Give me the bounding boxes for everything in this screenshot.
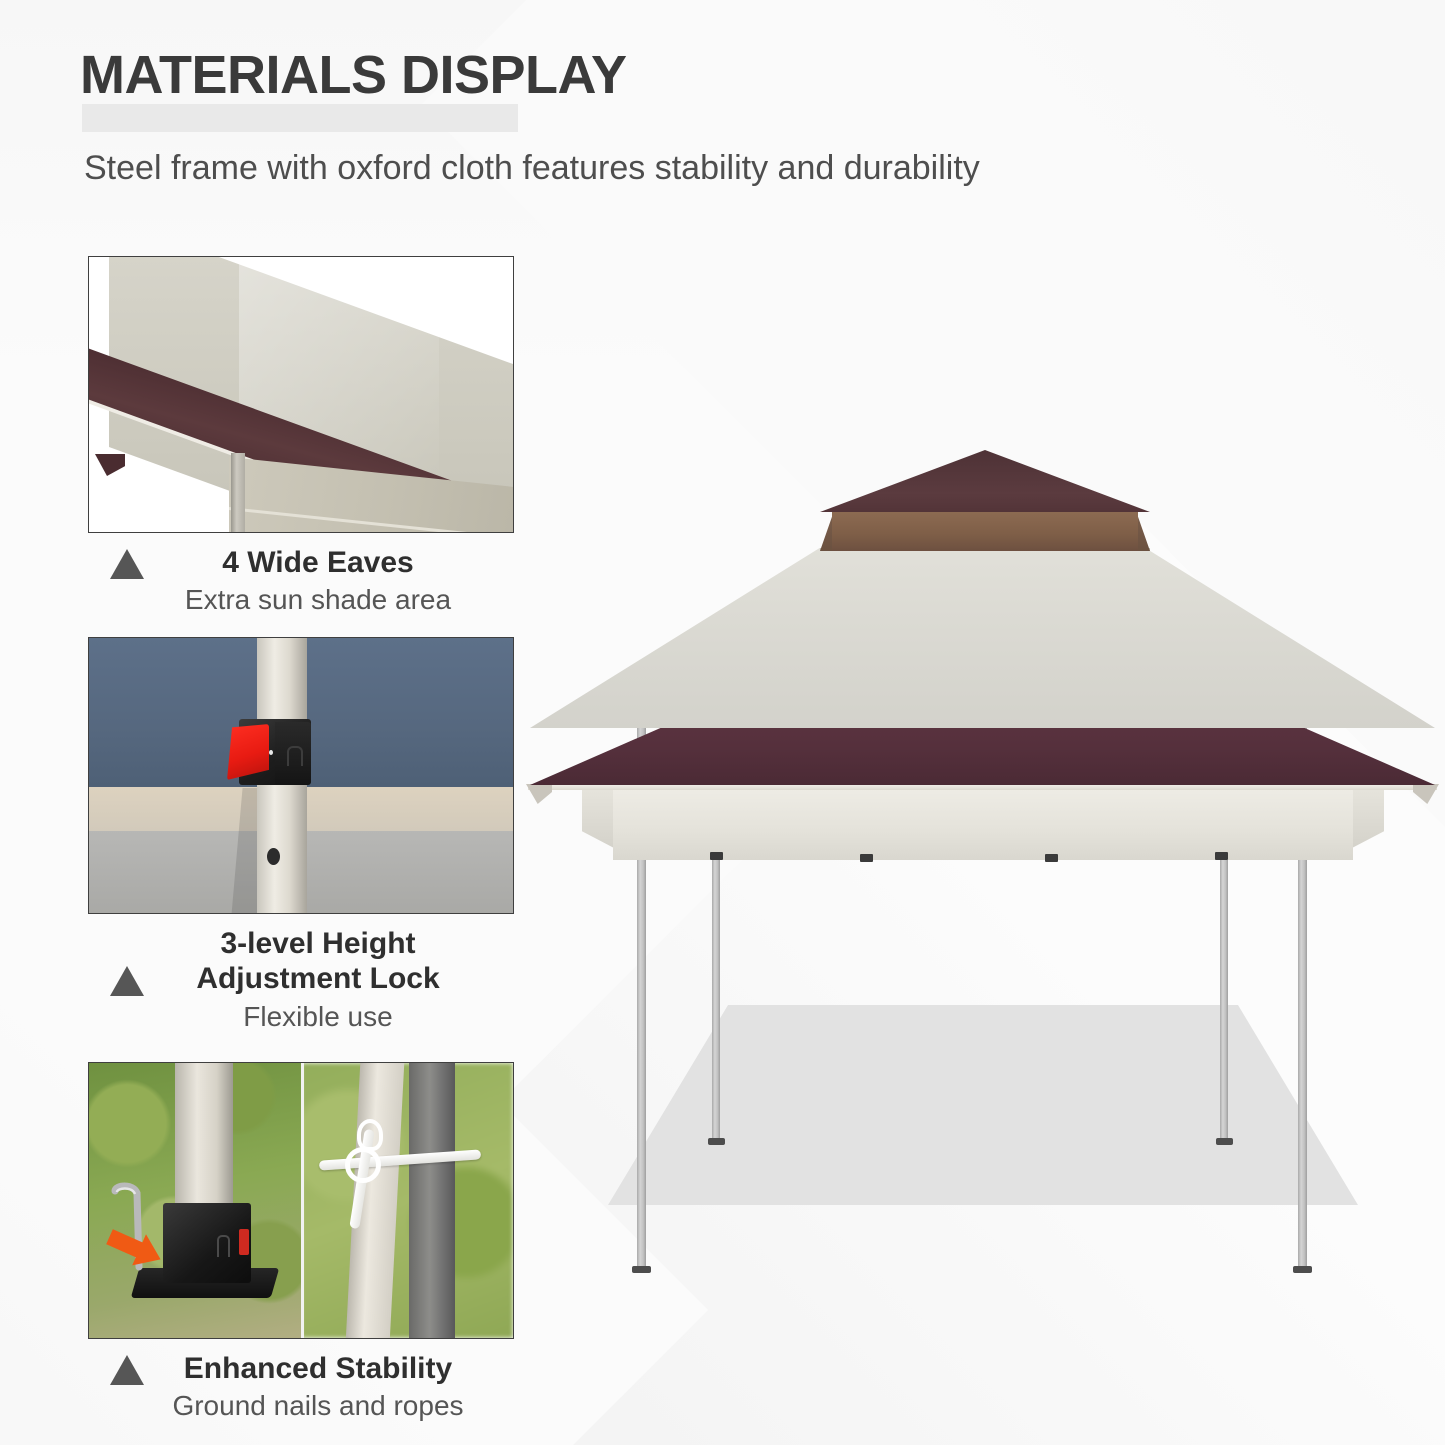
valance-clip [710,852,723,860]
infographic-page: MATERIALS DISPLAY Steel frame with oxfor… [0,0,1445,1445]
feature-caption-height-lock: 3-level Height Adjustment Lock Flexible … [88,914,514,1034]
feature-caption-stability: Enhanced Stability Ground nails and rope… [88,1339,514,1423]
foot-back-left [708,1138,725,1145]
lock-highlight-dot [269,750,273,755]
canopy-eave-corner-left [526,784,552,804]
feature-card-stability: Enhanced Stability Ground nails and rope… [88,1062,514,1423]
feature-subtitle: Ground nails and ropes [172,1388,463,1423]
rope-loop [357,1119,383,1151]
valance-clip [1215,852,1228,860]
feature-subtitle: Extra sun shade area [185,582,451,617]
title-highlight-bar [82,104,518,132]
pole-adjustment-hole [267,848,280,865]
triangle-up-icon [110,966,144,996]
product-illustration-gazebo [520,420,1445,1230]
foot-front-right [1293,1266,1312,1273]
foot-back-right [1216,1138,1233,1145]
valance-clip [1045,854,1058,862]
foot-front-left [632,1266,651,1273]
triangle-up-icon [110,1355,144,1385]
feature-title: 3-level Height Adjustment Lock [196,926,439,997]
feature-subtitle: Flexible use [196,999,439,1034]
floor-shadow [608,1005,1358,1205]
canopy-vent-side-right [1136,511,1150,551]
foot-red-tab [239,1229,249,1255]
canopy-top-peak [820,450,1150,512]
photo-divider [301,1063,304,1338]
feature-card-wide-eaves: 4 Wide Eaves Extra sun shade area [88,256,514,617]
feature-thumbnail-stability [88,1062,514,1339]
canopy-eave-corner-right [1413,784,1439,804]
rope-knot [345,1147,381,1183]
valance-side-left [582,788,614,848]
grass-background [301,1063,513,1338]
eave-photo [89,257,513,532]
page-subtitle: Steel frame with oxford cloth features s… [84,149,980,188]
stability-photo-left-ground-nail [89,1063,301,1338]
stability-photo-right-rope [301,1063,513,1338]
page-title: MATERIALS DISPLAY [80,44,627,106]
feature-card-height-lock: 3-level Height Adjustment Lock Flexible … [88,637,514,1034]
feature-title: Enhanced Stability [172,1351,463,1386]
lock-housing-slot [287,746,303,766]
canopy-main-roof [530,548,1435,728]
steel-pole-dark [409,1063,455,1338]
eave-support-pole [231,453,245,533]
feature-thumbnail-height-lock [88,637,514,914]
height-lock-photo [89,638,513,913]
ground-nail-icon [111,1181,153,1277]
foot-slot [217,1235,230,1257]
canopy-vent-band [832,511,1138,551]
eave-corner-tip [95,454,125,476]
feature-thumbnail-wide-eaves [88,256,514,533]
valance-front [613,788,1353,860]
valance-clip [860,854,873,862]
triangle-up-icon [110,549,144,579]
foot-housing [163,1203,251,1283]
feature-caption-wide-eaves: 4 Wide Eaves Extra sun shade area [88,533,514,617]
feature-title: 4 Wide Eaves [185,545,451,580]
stability-photo [89,1063,513,1338]
valance-side-right [1352,788,1384,848]
